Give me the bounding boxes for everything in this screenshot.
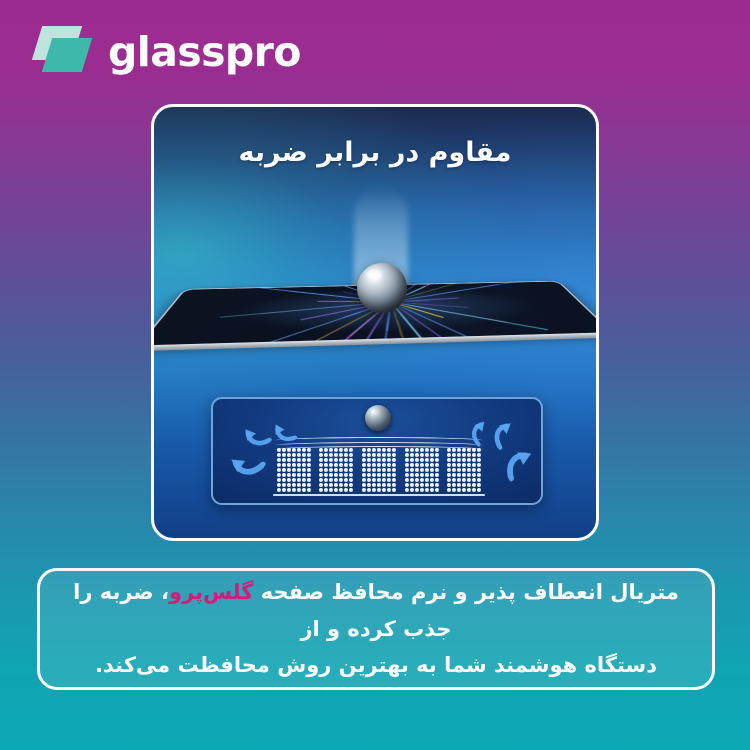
molecule-dot: [472, 458, 476, 462]
molecule-dot: [452, 483, 456, 487]
molecule-dot: [349, 483, 353, 487]
molecule-dot: [410, 448, 414, 452]
molecule-dot: [277, 453, 281, 457]
molecule-dot: [277, 488, 281, 492]
molecule-dot: [344, 458, 348, 462]
molecule-dot: [297, 473, 301, 477]
molecule-dot: [435, 488, 439, 492]
molecule-dot: [405, 473, 409, 477]
molecular-row: [447, 488, 481, 492]
molecular-row: [362, 483, 396, 487]
page-header: glasspro: [0, 0, 750, 100]
molecular-column: [360, 448, 398, 492]
molecule-dot: [329, 458, 333, 462]
molecule-dot: [302, 478, 306, 482]
molecule-dot: [435, 478, 439, 482]
dispersion-arrow: [499, 444, 542, 483]
molecule-dot: [344, 478, 348, 482]
molecule-dot: [329, 453, 333, 457]
molecule-dot: [420, 458, 424, 462]
molecular-column: [275, 448, 313, 492]
molecule-dot: [382, 453, 386, 457]
molecule-dot: [319, 488, 323, 492]
molecule-dot: [372, 448, 376, 452]
molecule-dot: [467, 463, 471, 467]
molecule-dot: [292, 453, 296, 457]
molecule-dot: [287, 453, 291, 457]
molecule-dot: [477, 483, 481, 487]
molecule-dot: [472, 448, 476, 452]
molecular-row: [362, 468, 396, 472]
molecule-dot: [420, 488, 424, 492]
molecule-dot: [277, 463, 281, 467]
molecule-dot: [420, 483, 424, 487]
molecule-dot: [302, 453, 306, 457]
molecule-dot: [324, 473, 328, 477]
molecule-dot: [457, 468, 461, 472]
molecular-row: [319, 473, 353, 477]
molecule-dot: [415, 473, 419, 477]
caption-box: متریال انعطاف پذیر و نرم محافظ صفحه گلس‌…: [37, 568, 715, 690]
molecular-row: [319, 448, 353, 452]
molecule-dot: [477, 458, 481, 462]
molecular-row: [362, 488, 396, 492]
molecule-dot: [430, 478, 434, 482]
molecule-dot: [447, 478, 451, 482]
molecule-dot: [382, 483, 386, 487]
molecule-dot: [467, 458, 471, 462]
molecule-dot: [349, 463, 353, 467]
molecular-row: [447, 463, 481, 467]
molecule-dot: [282, 478, 286, 482]
molecule-dot: [367, 468, 371, 472]
molecular-row: [447, 453, 481, 457]
molecule-dot: [435, 483, 439, 487]
molecule-dot: [287, 463, 291, 467]
molecule-dot: [462, 468, 466, 472]
molecule-dot: [462, 483, 466, 487]
logo-front-shape: [42, 38, 92, 72]
molecule-dot: [334, 488, 338, 492]
molecule-dot: [297, 458, 301, 462]
molecule-dot: [367, 478, 371, 482]
molecule-dot: [362, 483, 366, 487]
molecule-dot: [382, 478, 386, 482]
molecule-dot: [392, 458, 396, 462]
molecular-row: [405, 468, 439, 472]
molecule-dot: [329, 488, 333, 492]
molecule-dot: [382, 473, 386, 477]
molecular-row: [447, 473, 481, 477]
molecule-dot: [319, 473, 323, 477]
molecule-dot: [405, 468, 409, 472]
caption-line2: دستگاه هوشمند شما به بهترین روش محافظت م…: [95, 653, 657, 677]
molecule-dot: [362, 478, 366, 482]
molecule-dot: [277, 468, 281, 472]
molecule-dot: [452, 468, 456, 472]
molecule-dot: [302, 468, 306, 472]
molecule-dot: [425, 488, 429, 492]
molecule-dot: [372, 463, 376, 467]
molecule-dot: [420, 473, 424, 477]
molecule-dot: [472, 483, 476, 487]
molecule-dot: [447, 468, 451, 472]
molecule-dot: [457, 458, 461, 462]
molecule-dot: [410, 453, 414, 457]
molecular-row: [277, 463, 311, 467]
impact-absorption-diagram: [211, 397, 543, 505]
molecule-dot: [339, 478, 343, 482]
molecule-dot: [307, 478, 311, 482]
molecule-dot: [362, 488, 366, 492]
molecule-dot: [410, 488, 414, 492]
molecule-dot: [344, 483, 348, 487]
molecule-dot: [287, 483, 291, 487]
molecule-dot: [339, 473, 343, 477]
molecular-row: [405, 483, 439, 487]
molecule-dot: [344, 488, 348, 492]
molecule-dot: [415, 468, 419, 472]
molecule-dot: [420, 468, 424, 472]
molecular-row: [405, 453, 439, 457]
molecule-dot: [324, 483, 328, 487]
molecule-dot: [367, 488, 371, 492]
molecule-dot: [282, 453, 286, 457]
molecule-dot: [282, 468, 286, 472]
molecule-dot: [334, 473, 338, 477]
molecular-row: [277, 483, 311, 487]
molecule-dot: [277, 448, 281, 452]
molecule-dot: [334, 448, 338, 452]
molecule-dot: [447, 488, 451, 492]
substrate-baseline: [273, 494, 485, 496]
hero-image-panel: مقاوم در برابر ضربه: [151, 104, 599, 541]
molecule-dot: [425, 473, 429, 477]
molecule-dot: [430, 463, 434, 467]
molecule-dot: [392, 468, 396, 472]
molecule-dot: [435, 453, 439, 457]
molecular-row: [447, 483, 481, 487]
molecular-row: [447, 478, 481, 482]
molecular-row: [319, 483, 353, 487]
molecule-dot: [392, 478, 396, 482]
molecule-dot: [302, 458, 306, 462]
molecule-dot: [415, 448, 419, 452]
molecule-dot: [367, 458, 371, 462]
molecular-row: [319, 453, 353, 457]
molecule-dot: [472, 473, 476, 477]
molecule-dot: [410, 483, 414, 487]
molecule-dot: [467, 483, 471, 487]
molecule-dot: [334, 468, 338, 472]
molecule-dot: [457, 483, 461, 487]
molecule-dot: [387, 448, 391, 452]
ball-highlight: [367, 270, 382, 280]
molecule-dot: [329, 448, 333, 452]
molecule-dot: [362, 473, 366, 477]
molecule-dot: [344, 453, 348, 457]
molecule-dot: [329, 483, 333, 487]
molecule-dot: [302, 488, 306, 492]
brand-wordmark: glasspro: [108, 32, 301, 73]
molecule-dot: [302, 483, 306, 487]
molecule-dot: [292, 458, 296, 462]
molecular-row: [405, 488, 439, 492]
dispersion-arrow: [487, 417, 522, 452]
molecule-dot: [392, 453, 396, 457]
molecule-dot: [387, 453, 391, 457]
molecule-dot: [467, 468, 471, 472]
diagram-steel-ball-icon: [365, 405, 391, 431]
molecule-dot: [377, 483, 381, 487]
molecule-dot: [367, 448, 371, 452]
molecule-dot: [430, 473, 434, 477]
molecule-dot: [435, 473, 439, 477]
molecule-dot: [339, 453, 343, 457]
molecule-dot: [282, 448, 286, 452]
molecule-dot: [339, 468, 343, 472]
molecule-dot: [292, 448, 296, 452]
molecule-dot: [452, 463, 456, 467]
molecule-dot: [410, 468, 414, 472]
molecule-dot: [349, 473, 353, 477]
molecule-dot: [452, 478, 456, 482]
molecule-dot: [307, 473, 311, 477]
molecule-dot: [420, 463, 424, 467]
molecule-dot: [307, 488, 311, 492]
molecule-dot: [462, 473, 466, 477]
molecule-dot: [277, 458, 281, 462]
molecule-dot: [477, 478, 481, 482]
molecule-dot: [277, 483, 281, 487]
molecule-dot: [334, 463, 338, 467]
molecule-dot: [425, 478, 429, 482]
molecule-dot: [415, 458, 419, 462]
molecule-dot: [457, 473, 461, 477]
molecule-dot: [387, 488, 391, 492]
molecular-row: [405, 458, 439, 462]
molecule-dot: [467, 478, 471, 482]
molecule-dot: [405, 458, 409, 462]
stacked-parallelograms-logo-icon: [36, 26, 94, 78]
molecule-dot: [287, 478, 291, 482]
molecule-dot: [430, 448, 434, 452]
molecule-dot: [292, 468, 296, 472]
molecule-dot: [292, 463, 296, 467]
molecule-dot: [405, 478, 409, 482]
molecule-dot: [425, 448, 429, 452]
promo-page: glasspro مقاوم در برابر ضربه: [0, 0, 750, 750]
molecule-dot: [297, 483, 301, 487]
molecule-dot: [410, 463, 414, 467]
molecule-dot: [382, 463, 386, 467]
molecule-dot: [319, 483, 323, 487]
molecular-column: [445, 448, 483, 492]
molecule-dot: [377, 448, 381, 452]
molecule-dot: [472, 463, 476, 467]
molecule-dot: [329, 478, 333, 482]
molecular-row: [319, 463, 353, 467]
molecule-dot: [425, 453, 429, 457]
molecule-dot: [447, 453, 451, 457]
molecule-dot: [477, 453, 481, 457]
molecule-dot: [387, 483, 391, 487]
molecule-dot: [282, 488, 286, 492]
molecule-dot: [349, 468, 353, 472]
molecule-dot: [339, 483, 343, 487]
molecular-row: [277, 473, 311, 477]
molecule-dot: [339, 463, 343, 467]
molecule-dot: [319, 463, 323, 467]
steel-ball-icon: [357, 263, 407, 313]
molecule-dot: [467, 473, 471, 477]
molecular-row: [277, 448, 311, 452]
molecule-dot: [372, 458, 376, 462]
molecule-dot: [277, 473, 281, 477]
caption-brand-highlight: گلس‌پرو: [169, 580, 253, 604]
molecule-dot: [319, 448, 323, 452]
molecule-dot: [447, 458, 451, 462]
brand-logo-lockup[interactable]: glasspro: [36, 26, 301, 78]
molecule-dot: [477, 463, 481, 467]
molecule-dot: [435, 468, 439, 472]
molecule-dot: [287, 468, 291, 472]
molecule-dot: [319, 453, 323, 457]
molecule-dot: [387, 473, 391, 477]
molecule-dot: [339, 448, 343, 452]
molecule-dot: [297, 448, 301, 452]
molecule-dot: [405, 483, 409, 487]
molecule-dot: [362, 453, 366, 457]
molecule-dot: [282, 473, 286, 477]
molecule-dot: [435, 463, 439, 467]
molecule-dot: [425, 463, 429, 467]
molecule-dot: [307, 468, 311, 472]
molecule-dot: [472, 488, 476, 492]
molecule-dot: [324, 448, 328, 452]
molecule-dot: [307, 458, 311, 462]
molecule-dot: [307, 483, 311, 487]
molecule-dot: [319, 468, 323, 472]
molecule-dot: [430, 488, 434, 492]
molecular-row: [319, 478, 353, 482]
molecular-row: [362, 458, 396, 462]
hero-headline: مقاوم در برابر ضربه: [154, 137, 596, 168]
molecular-row: [319, 458, 353, 462]
molecule-dot: [410, 478, 414, 482]
molecule-dot: [410, 473, 414, 477]
molecule-dot: [472, 453, 476, 457]
molecular-row: [277, 478, 311, 482]
screen-crack-line: [390, 301, 548, 330]
molecule-dot: [307, 463, 311, 467]
molecule-dot: [430, 468, 434, 472]
molecular-row: [319, 488, 353, 492]
molecular-row: [362, 453, 396, 457]
molecule-dot: [387, 478, 391, 482]
molecule-dot: [372, 488, 376, 492]
molecule-dot: [302, 448, 306, 452]
molecule-dot: [477, 468, 481, 472]
molecule-dot: [405, 463, 409, 467]
molecule-dot: [292, 473, 296, 477]
molecule-dot: [462, 478, 466, 482]
molecule-dot: [467, 488, 471, 492]
molecule-dot: [372, 473, 376, 477]
molecule-dot: [292, 478, 296, 482]
molecule-dot: [349, 488, 353, 492]
molecule-dot: [447, 448, 451, 452]
molecular-row: [362, 478, 396, 482]
molecule-dot: [425, 468, 429, 472]
molecule-dot: [405, 448, 409, 452]
molecular-row: [447, 448, 481, 452]
molecule-dot: [344, 468, 348, 472]
molecule-dot: [415, 453, 419, 457]
molecule-dot: [282, 463, 286, 467]
molecule-dot: [467, 453, 471, 457]
molecule-dot: [420, 453, 424, 457]
molecule-dot: [324, 478, 328, 482]
molecule-dot: [447, 463, 451, 467]
molecule-dot: [302, 473, 306, 477]
molecule-dot: [452, 453, 456, 457]
molecular-row: [362, 463, 396, 467]
molecule-dot: [387, 458, 391, 462]
molecule-dot: [420, 448, 424, 452]
molecule-dot: [287, 448, 291, 452]
molecule-dot: [377, 478, 381, 482]
molecule-dot: [405, 453, 409, 457]
molecule-dot: [410, 458, 414, 462]
molecule-dot: [334, 478, 338, 482]
molecule-dot: [297, 468, 301, 472]
molecule-dot: [415, 478, 419, 482]
molecule-dot: [452, 488, 456, 492]
molecule-dot: [452, 473, 456, 477]
molecule-dot: [415, 463, 419, 467]
molecule-dot: [435, 458, 439, 462]
molecular-row: [319, 468, 353, 472]
molecule-dot: [297, 453, 301, 457]
molecule-dot: [324, 453, 328, 457]
molecule-dot: [297, 488, 301, 492]
molecule-dot: [367, 453, 371, 457]
molecule-dot: [477, 448, 481, 452]
molecule-dot: [387, 463, 391, 467]
molecule-dot: [277, 478, 281, 482]
molecule-dot: [457, 463, 461, 467]
molecule-dot: [344, 448, 348, 452]
molecular-row: [405, 473, 439, 477]
molecular-column: [318, 448, 356, 492]
molecule-dot: [297, 463, 301, 467]
molecular-row: [405, 478, 439, 482]
molecule-dot: [344, 463, 348, 467]
molecule-dot: [349, 458, 353, 462]
molecule-dot: [372, 453, 376, 457]
molecule-dot: [349, 448, 353, 452]
molecule-dot: [447, 483, 451, 487]
molecule-dot: [477, 488, 481, 492]
molecule-dot: [462, 453, 466, 457]
molecule-dot: [457, 453, 461, 457]
molecule-dot: [435, 448, 439, 452]
molecular-row: [362, 473, 396, 477]
molecule-dot: [377, 463, 381, 467]
molecule-dot: [392, 483, 396, 487]
molecule-dot: [287, 458, 291, 462]
